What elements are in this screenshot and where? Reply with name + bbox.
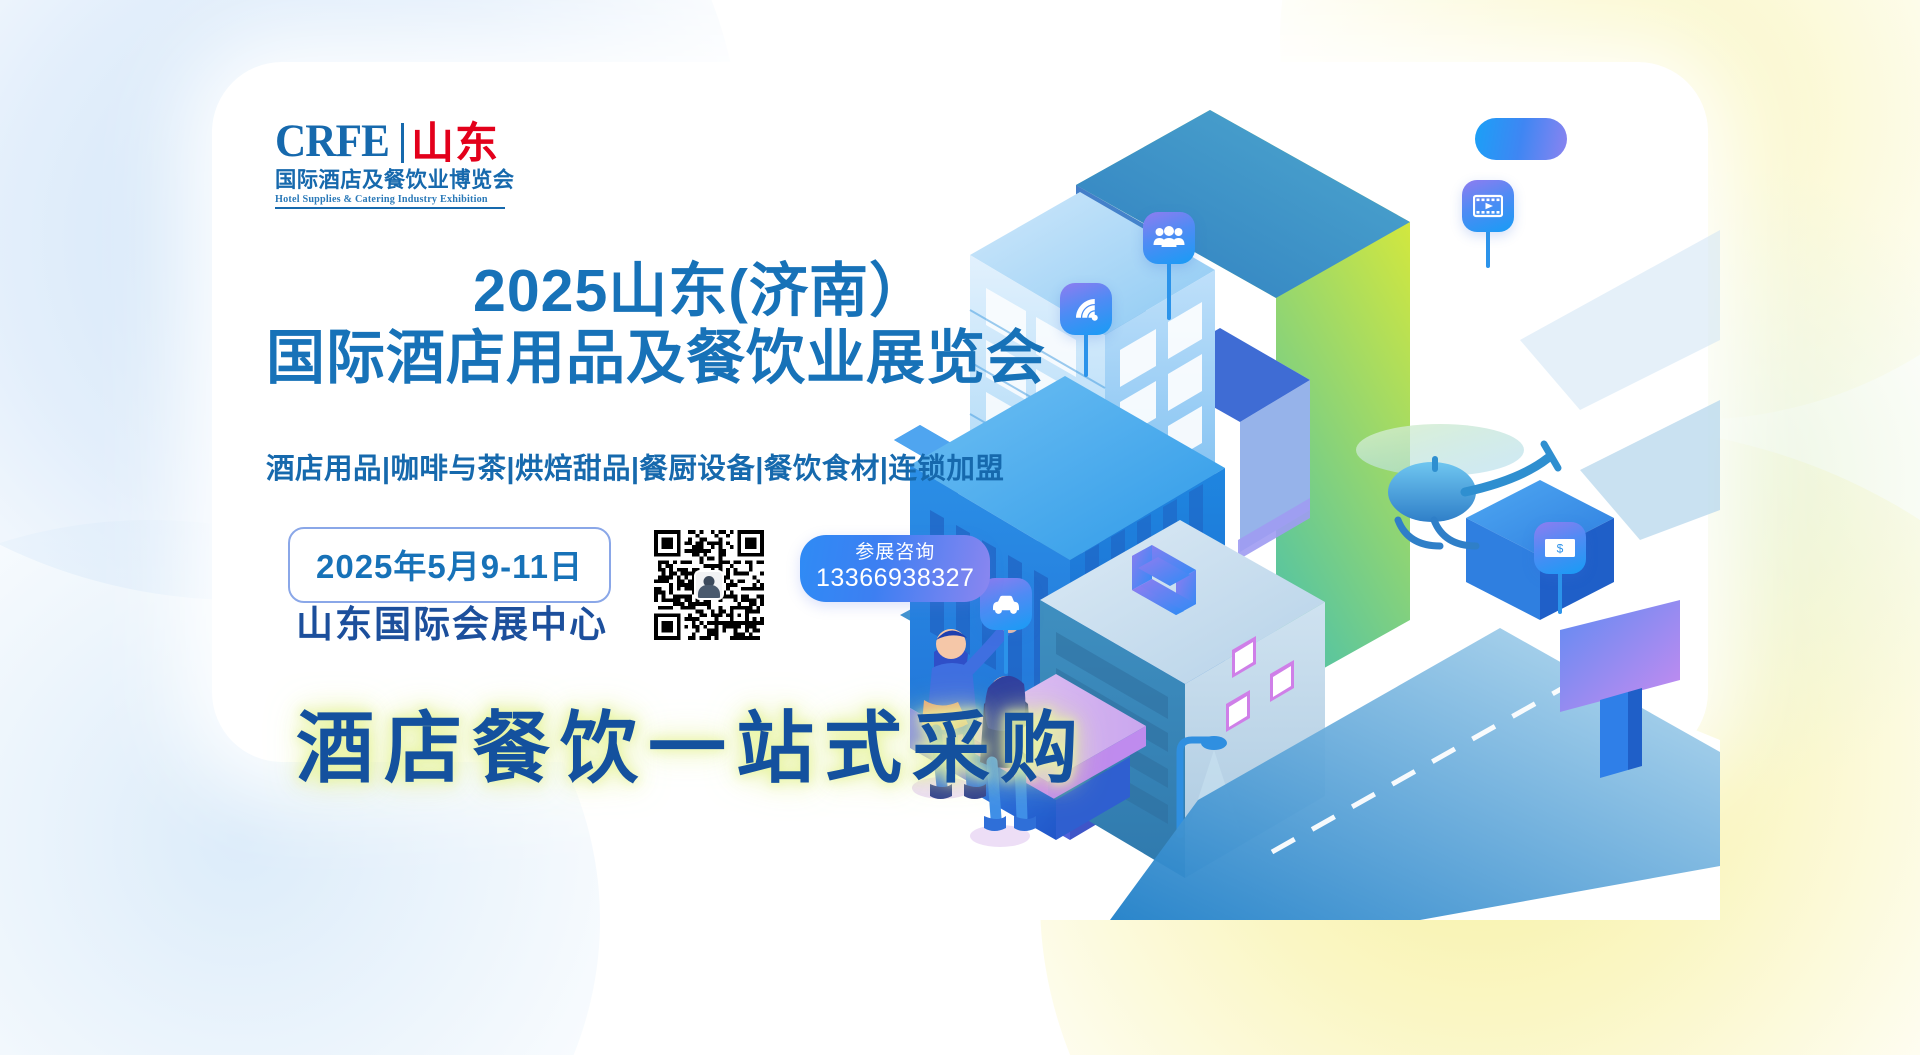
- money-symbol: $: [1557, 542, 1564, 556]
- contact-phone: 13366938327: [816, 564, 974, 593]
- wifi-pin[interactable]: [1060, 283, 1112, 377]
- qr-code[interactable]: [654, 530, 764, 640]
- brand-logo: CRFE 山东 国际酒店及餐饮业博览会 Hotel Supplies & Cat…: [275, 118, 505, 209]
- contact-badge[interactable]: 参展咨询 13366938327: [800, 535, 990, 602]
- car-icon: [990, 593, 1022, 615]
- headline-line-1: 2025山东(济南）: [266, 258, 1046, 324]
- logo-wordmark: CRFE: [275, 118, 389, 165]
- video-pin-bubble: [1462, 180, 1514, 232]
- people-group-icon: [1153, 225, 1185, 251]
- people-pin[interactable]: [1143, 212, 1195, 320]
- video-pin-stem: [1486, 232, 1490, 268]
- people-pin-stem: [1167, 264, 1171, 320]
- event-date-badge: 2025年5月9-11日: [288, 527, 611, 603]
- logo-underline: [275, 207, 505, 209]
- slogan: 酒店餐饮一站式采购: [296, 686, 1088, 798]
- film-play-icon: [1473, 194, 1503, 218]
- logo-region: 山东: [411, 124, 499, 165]
- car-pin-stem: [1004, 630, 1008, 674]
- money-pin[interactable]: $: [1534, 522, 1586, 614]
- headline-line-2: 国际酒店用品及餐饮业展览会: [266, 324, 1046, 392]
- car-pin[interactable]: [980, 578, 1032, 674]
- contact-label: 参展咨询: [816, 542, 974, 564]
- logo-english-subtitle: Hotel Supplies & Catering Industry Exhib…: [275, 194, 498, 205]
- qr-avatar: [694, 570, 724, 600]
- logo-top-row: CRFE 山东: [275, 118, 505, 165]
- poster-root: CRFE 山东 国际酒店及餐饮业博览会 Hotel Supplies & Cat…: [0, 0, 1920, 1055]
- avatar-body: [698, 585, 720, 598]
- gradient-pill-decoration: [1475, 118, 1567, 160]
- money-pin-stem: [1558, 574, 1562, 614]
- event-venue: 山东国际会展中心: [296, 594, 608, 648]
- category-list: 酒店用品|咖啡与茶|烘焙甜品|餐厨设备|餐饮食材|连锁加盟: [266, 446, 1004, 487]
- people-pin-bubble: [1143, 212, 1195, 264]
- video-pin[interactable]: [1462, 180, 1514, 268]
- event-date-text: 2025年5月9-11日: [316, 548, 583, 585]
- wifi-icon: [1071, 294, 1101, 324]
- wifi-pin-stem: [1084, 335, 1088, 377]
- wifi-pin-bubble: [1060, 283, 1112, 335]
- page-title: 2025山东(济南） 国际酒店用品及餐饮业展览会: [266, 258, 1046, 393]
- logo-chinese-subtitle: 国际酒店及餐饮业博览会: [275, 168, 503, 193]
- banknote-icon: $: [1544, 538, 1576, 558]
- logo-divider: [401, 123, 404, 163]
- money-pin-bubble: $: [1534, 522, 1586, 574]
